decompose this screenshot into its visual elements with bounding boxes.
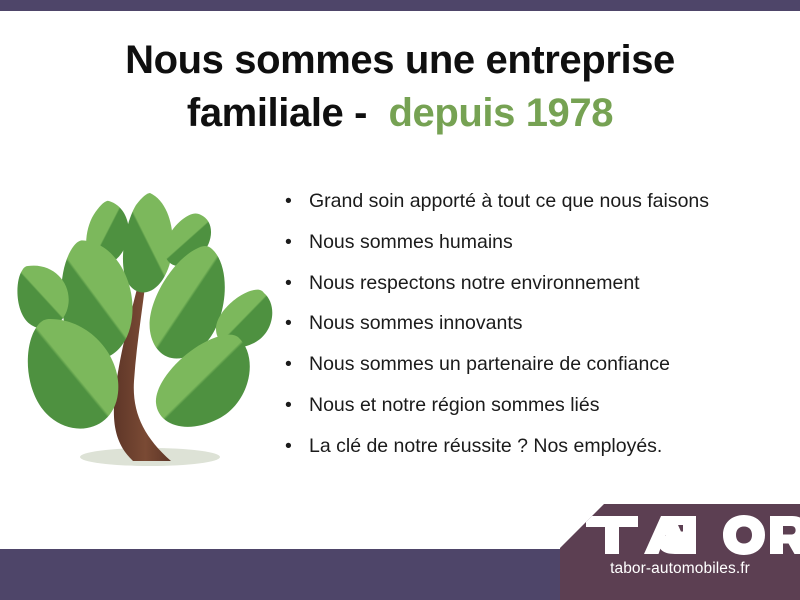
bullet-marker: • [285, 190, 292, 214]
tabor-wordmark [560, 510, 800, 558]
list-item: • La clé de notre réussite ? Nos employé… [283, 435, 753, 459]
list-item: • Nous sommes innovants [283, 312, 753, 336]
page-title-accent: depuis 1978 [388, 91, 613, 135]
page-title-dash [343, 91, 354, 135]
list-item-label: Nous sommes un partenaire de confiance [309, 353, 670, 375]
list-item-label: La clé de notre réussite ? Nos employés. [309, 435, 662, 457]
tree-foliage [16, 193, 272, 429]
list-item: • Nous sommes humains [283, 231, 753, 255]
list-item-label: Nous respectons notre environnement [309, 272, 640, 294]
top-accent-bar [0, 0, 800, 11]
page-title-spacer [367, 91, 388, 135]
value-proposition-list: • Grand soin apporté à tout ce que nous … [283, 190, 753, 458]
bullet-marker: • [285, 435, 292, 459]
bullet-marker: • [285, 353, 292, 377]
slide-canvas: Nous sommes une entreprise familiale - d… [0, 0, 800, 600]
tree-icon [16, 185, 282, 485]
bullet-marker: • [285, 394, 292, 418]
list-item-label: Nous sommes innovants [309, 312, 523, 334]
page-title-line-1: Nous sommes une entreprise [0, 34, 800, 87]
list-item: • Grand soin apporté à tout ce que nous … [283, 190, 753, 214]
bullet-marker: • [285, 231, 292, 255]
tree-illustration [16, 185, 282, 485]
list-item-label: Nous et notre région sommes liés [309, 394, 599, 416]
logo-tagline: tabor-automobiles.fr [560, 560, 800, 578]
list-item: • Nous et notre région sommes liés [283, 394, 753, 418]
bullet-marker: • [285, 272, 292, 296]
list-item: • Nous sommes un partenaire de confiance [283, 353, 753, 377]
list-item-label: Grand soin apporté à tout ce que nous fa… [309, 190, 709, 212]
page-title-familiale: familiale [187, 91, 343, 135]
brand-logo-banner[interactable]: tabor-automobiles.fr [560, 504, 800, 600]
page-title: Nous sommes une entreprise familiale - d… [0, 34, 800, 140]
page-title-line-2: familiale - depuis 1978 [0, 87, 800, 140]
list-item-label: Nous sommes humains [309, 231, 513, 253]
bullet-marker: • [285, 312, 292, 336]
list-item: • Nous respectons notre environnement [283, 272, 753, 296]
page-title-dash-glyph: - [354, 91, 367, 135]
